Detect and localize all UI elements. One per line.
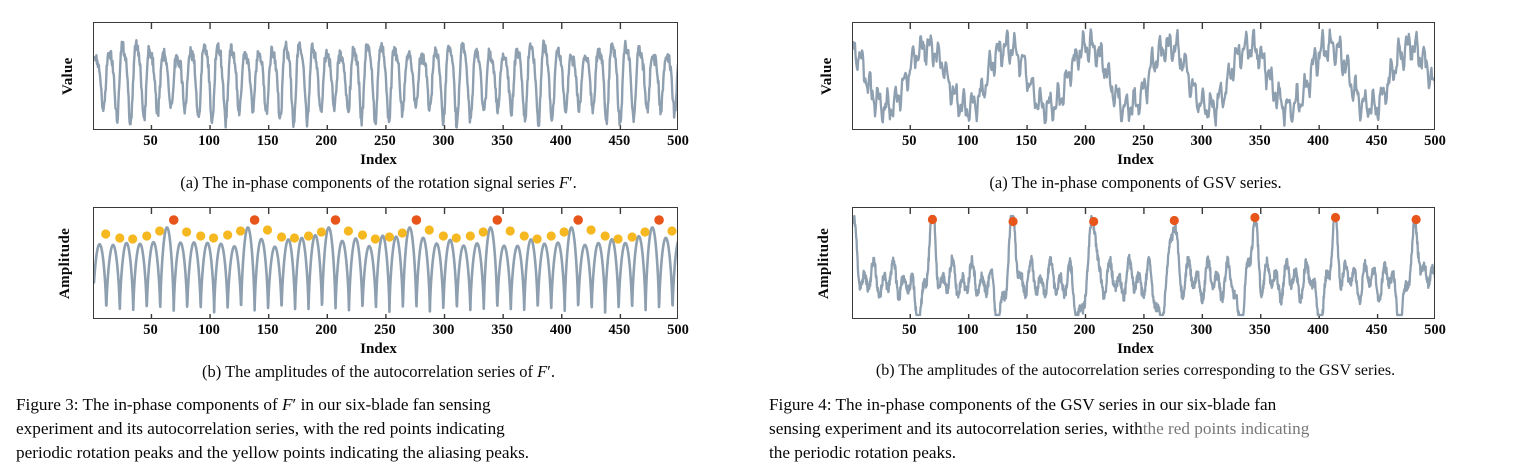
yellow-peak-marker xyxy=(223,230,232,239)
x-tick-label: 400 xyxy=(1307,322,1329,339)
fig4-panel-a-subcaption: (a) The in-phase components of GSV serie… xyxy=(757,173,1514,193)
x-tick-label: 250 xyxy=(1132,133,1154,150)
yellow-peak-marker xyxy=(182,227,191,236)
x-tick-label: 500 xyxy=(667,322,689,339)
yellow-peak-marker xyxy=(439,231,448,240)
x-tick-label: 450 xyxy=(1366,322,1388,339)
yellow-peak-marker xyxy=(209,233,218,242)
figure-4-caption-line-2: sensing experiment and its autocorrelati… xyxy=(769,417,1499,441)
fig3-panel-a-xticklabels: 50100150200250300350400450500 xyxy=(93,133,678,153)
fig3-panel-a-xlabel: Index xyxy=(0,152,757,169)
red-peak-marker xyxy=(331,215,341,225)
yellow-peak-marker xyxy=(371,234,380,243)
x-tick-label: 200 xyxy=(315,322,337,339)
x-tick-label: 400 xyxy=(1307,133,1329,150)
yellow-peak-marker xyxy=(385,232,394,241)
red-peak-marker xyxy=(1331,213,1340,222)
x-tick-label: 200 xyxy=(1074,133,1096,150)
yellow-peak-marker xyxy=(155,226,164,235)
yellow-peak-marker xyxy=(358,230,367,239)
fig4-panel-a-xticklabels: 50100150200250300350400450500 xyxy=(852,133,1435,153)
x-tick-label: 50 xyxy=(143,322,158,339)
red-peak-marker xyxy=(412,215,422,225)
yellow-peak-marker xyxy=(667,226,676,235)
red-peak-marker xyxy=(1089,217,1098,226)
yellow-peak-marker xyxy=(196,231,205,240)
x-tick-label: 50 xyxy=(902,133,917,150)
yellow-peak-marker xyxy=(277,232,286,241)
x-tick-label: 350 xyxy=(1249,133,1271,150)
x-tick-label: 300 xyxy=(433,133,455,150)
x-tick-label: 450 xyxy=(1366,133,1388,150)
x-tick-label: 450 xyxy=(609,322,631,339)
x-tick-label: 100 xyxy=(957,322,979,339)
yellow-peak-marker xyxy=(506,226,515,235)
yellow-peak-marker xyxy=(640,227,649,236)
yellow-peak-marker xyxy=(586,225,595,234)
x-tick-label: 450 xyxy=(609,133,631,150)
red-peak-marker xyxy=(250,215,260,225)
figure-3-caption-line-3: periodic rotation peaks and the yellow p… xyxy=(16,441,742,465)
yellow-peak-marker xyxy=(613,234,622,243)
red-peak-marker xyxy=(1250,213,1259,222)
x-tick-label: 250 xyxy=(374,322,396,339)
yellow-peak-marker xyxy=(560,227,569,236)
red-peak-marker xyxy=(1008,217,1017,226)
figure-4-column: Value 50100150200250300350400450500 Inde… xyxy=(757,0,1514,475)
red-peak-marker xyxy=(169,215,179,225)
fig3-panel-b-plot xyxy=(93,207,678,319)
red-peak-marker xyxy=(492,215,502,225)
fig4-panel-b-xlabel: Index xyxy=(757,341,1514,358)
yellow-peak-marker xyxy=(425,225,434,234)
yellow-peak-marker xyxy=(142,231,151,240)
yellow-peak-marker xyxy=(479,227,488,236)
x-tick-label: 400 xyxy=(550,133,572,150)
x-tick-label: 300 xyxy=(1190,322,1212,339)
figure-4-caption-line-2-a: sensing experiment and its autocorrelati… xyxy=(769,419,1143,438)
yellow-peak-marker xyxy=(452,233,461,242)
yellow-peak-marker xyxy=(304,231,313,240)
fig3-panel-a-plot xyxy=(93,22,678,130)
yellow-peak-marker xyxy=(290,233,299,242)
yellow-peak-marker xyxy=(466,231,475,240)
yellow-peak-marker xyxy=(317,227,326,236)
yellow-peak-marker xyxy=(128,234,137,243)
x-tick-label: 100 xyxy=(957,133,979,150)
x-tick-label: 150 xyxy=(1015,133,1037,150)
yellow-peak-marker xyxy=(101,229,110,238)
fig4-panel-b-subcaption: (b) The amplitudes of the autocorrelatio… xyxy=(757,362,1514,380)
x-tick-label: 200 xyxy=(1074,322,1096,339)
x-tick-label: 350 xyxy=(1249,322,1271,339)
x-tick-label: 150 xyxy=(257,322,279,339)
figure-3-caption-line-2: experiment and its autocorrelation serie… xyxy=(16,417,742,441)
fig4-panel-a-plot xyxy=(852,22,1435,130)
x-tick-label: 400 xyxy=(550,322,572,339)
figure-3-caption: Figure 3: The in-phase components of F′ … xyxy=(16,393,742,465)
yellow-peak-marker xyxy=(115,233,124,242)
fig3-panel-b-ylabel: Amplitude xyxy=(57,207,75,319)
fig4-panel-a-xlabel: Index xyxy=(757,152,1514,169)
x-tick-label: 150 xyxy=(257,133,279,150)
red-peak-marker xyxy=(928,215,937,224)
x-tick-label: 500 xyxy=(1424,133,1446,150)
fig3-panel-a-subcaption: (a) The in-phase components of the rotat… xyxy=(0,173,757,193)
fig3-panel-a-ylabel: Value xyxy=(60,22,78,130)
red-peak-marker xyxy=(1412,215,1421,224)
fig4-panel-a-ylabel: Value xyxy=(819,22,837,130)
x-tick-label: 150 xyxy=(1015,322,1037,339)
fig4-panel-b-xticklabels: 50100150200250300350400450500 xyxy=(852,322,1435,342)
fig4-panel-b-plot xyxy=(852,207,1435,319)
x-tick-label: 250 xyxy=(374,133,396,150)
yellow-peak-marker xyxy=(601,231,610,240)
x-tick-label: 300 xyxy=(433,322,455,339)
yellow-peak-marker xyxy=(533,234,542,243)
x-tick-label: 250 xyxy=(1132,322,1154,339)
x-tick-label: 200 xyxy=(315,133,337,150)
figure-page: Value 50100150200250300350400450500 Inde… xyxy=(0,0,1514,475)
figure-4-caption-line-3: the periodic rotation peaks. xyxy=(769,441,1499,465)
fig4-panel-b-ylabel: Amplitude xyxy=(816,207,834,319)
fig3-panel-b-subcaption: (b) The amplitudes of the autocorrelatio… xyxy=(0,362,757,382)
yellow-peak-marker xyxy=(236,226,245,235)
yellow-peak-marker xyxy=(547,231,556,240)
figure-4-caption-line-1: Figure 4: The in-phase components of the… xyxy=(769,393,1499,417)
x-tick-label: 100 xyxy=(198,133,220,150)
red-peak-marker xyxy=(1170,216,1179,225)
figure-4-caption: Figure 4: The in-phase components of the… xyxy=(769,393,1499,465)
x-tick-label: 50 xyxy=(143,133,158,150)
figure-3-column: Value 50100150200250300350400450500 Inde… xyxy=(0,0,757,475)
x-tick-label: 100 xyxy=(198,322,220,339)
x-tick-label: 300 xyxy=(1190,133,1212,150)
yellow-peak-marker xyxy=(344,226,353,235)
fig3-panel-b-xticklabels: 50100150200250300350400450500 xyxy=(93,322,678,342)
x-tick-label: 50 xyxy=(902,322,917,339)
figure-3-caption-line-1: Figure 3: The in-phase components of F′ … xyxy=(16,393,742,417)
x-tick-label: 350 xyxy=(491,133,513,150)
yellow-peak-marker xyxy=(263,225,272,234)
red-peak-marker xyxy=(654,215,664,225)
x-tick-label: 500 xyxy=(1424,322,1446,339)
fig3-panel-b-xlabel: Index xyxy=(0,341,757,358)
yellow-peak-marker xyxy=(520,231,529,240)
red-peak-marker xyxy=(573,215,583,225)
x-tick-label: 500 xyxy=(667,133,689,150)
figure-4-caption-line-2-b: the red points indicating xyxy=(1143,419,1310,438)
yellow-peak-marker xyxy=(628,232,637,241)
yellow-peak-marker xyxy=(398,228,407,237)
x-tick-label: 350 xyxy=(491,322,513,339)
